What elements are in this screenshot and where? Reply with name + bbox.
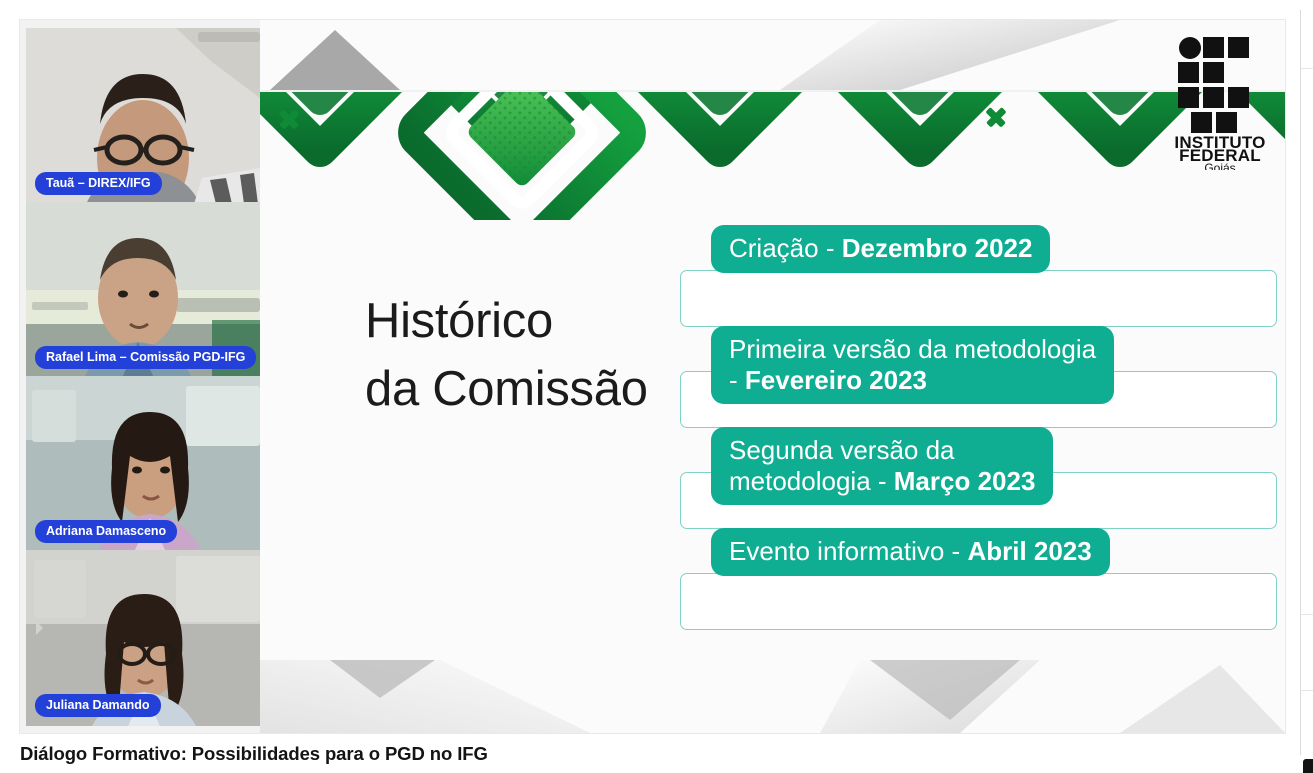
timeline-chip-label: Criação - (729, 233, 842, 263)
timeline-row: Criação - Dezembro 2022 (680, 225, 1280, 326)
timeline-chip-label: Evento informativo - (729, 536, 967, 566)
meeting-screen: INSTITUTO FEDERAL Goiás Histórico da Com… (0, 0, 1313, 773)
filmstrip-collapse-handle[interactable] (34, 618, 45, 638)
side-panel-edge[interactable] (1300, 10, 1313, 755)
participant-name-badge: Juliana Damando (35, 694, 161, 717)
ifg-logo-svg: INSTITUTO FEDERAL Goiás (1165, 30, 1275, 170)
ifg-logo-line3: Goiás (1204, 161, 1235, 170)
side-panel-divider (1301, 68, 1313, 69)
side-panel-divider (1301, 690, 1313, 691)
participant-filmstrip[interactable]: Tauã – DIREX/IFG (20, 20, 260, 733)
timeline-row: Evento informativo - Abril 2023 (680, 528, 1280, 629)
participant-name-badge: Tauã – DIREX/IFG (35, 172, 162, 195)
video-tile-participant-1[interactable]: Tauã – DIREX/IFG (26, 28, 260, 204)
participant-name-badge: Adriana Damasceno (35, 520, 177, 543)
video-tile-participant-4[interactable]: Juliana Damando (26, 550, 260, 726)
side-panel-divider (1301, 614, 1313, 615)
corner-indicator (1303, 759, 1313, 773)
timeline-list: Criação - Dezembro 2022 Primeira versão … (680, 225, 1280, 629)
chevron-right-icon (34, 618, 45, 638)
timeline-row: Segunda versão da metodologia - Março 20… (680, 427, 1280, 528)
timeline-chip: Primeira versão da metodologia - Feverei… (711, 326, 1114, 404)
timeline-chip-emphasis: Dezembro 2022 (842, 233, 1033, 263)
meeting-title: Diálogo Formativo: Possibilidades para o… (20, 743, 488, 765)
timeline-chip-emphasis: Março 2023 (894, 466, 1036, 496)
timeline-chip-emphasis: Abril 2023 (967, 536, 1091, 566)
ifg-logo: INSTITUTO FEDERAL Goiás (1165, 30, 1275, 170)
shared-slide[interactable]: INSTITUTO FEDERAL Goiás Histórico da Com… (260, 20, 1285, 733)
slide-heading: Histórico da Comissão (365, 288, 695, 423)
timeline-outline-box (680, 573, 1277, 630)
slide-content: INSTITUTO FEDERAL Goiás Histórico da Com… (260, 20, 1285, 733)
timeline-row: Primeira versão da metodologia - Feverei… (680, 326, 1280, 427)
video-tile-participant-3[interactable]: Adriana Damasceno (26, 376, 260, 552)
timeline-chip: Criação - Dezembro 2022 (711, 225, 1050, 273)
timeline-outline-box (680, 270, 1277, 327)
timeline-chip: Evento informativo - Abril 2023 (711, 528, 1110, 576)
ifg-logo-grid (1178, 37, 1249, 133)
timeline-chip-emphasis: Fevereiro 2023 (745, 365, 927, 395)
meeting-stage: INSTITUTO FEDERAL Goiás Histórico da Com… (20, 20, 1285, 733)
participant-name-badge: Rafael Lima – Comissão PGD-IFG (35, 346, 256, 369)
video-tile-participant-2[interactable]: Rafael Lima – Comissão PGD-IFG (26, 202, 260, 378)
timeline-chip: Segunda versão da metodologia - Março 20… (711, 427, 1053, 505)
